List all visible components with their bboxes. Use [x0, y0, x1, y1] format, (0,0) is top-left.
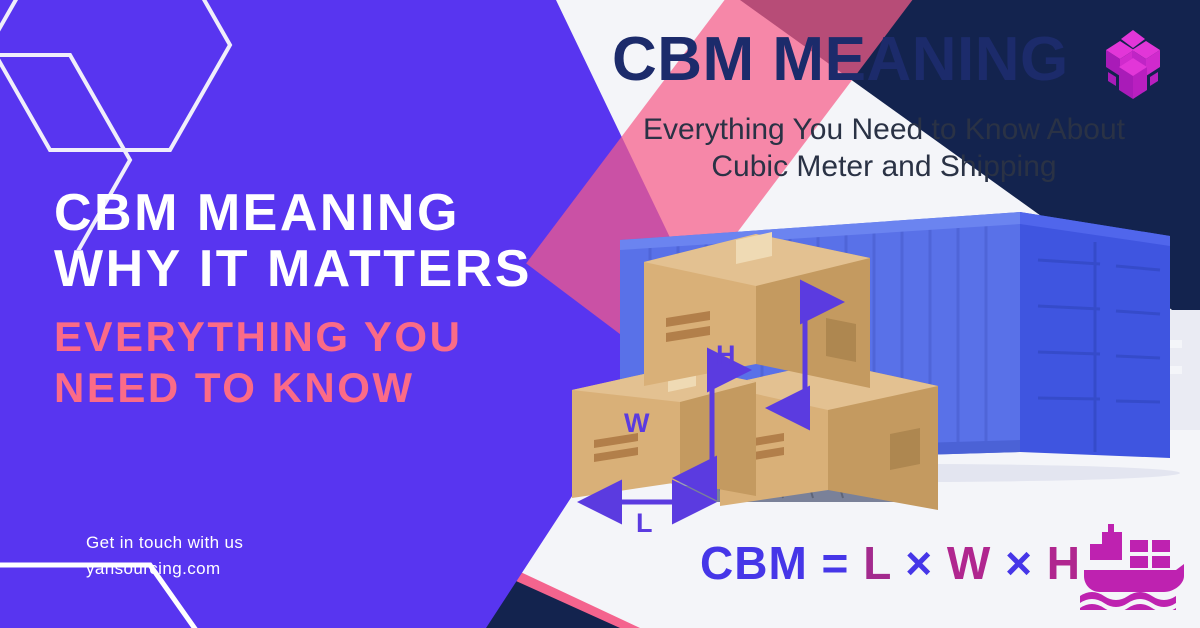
cargo-ship-icon: [1080, 518, 1184, 610]
formula-equals: =: [822, 537, 850, 589]
right-panel-subtitle: Everything You Need to Know About Cubic …: [604, 112, 1164, 185]
subtitle-line-1: Everything You Need to Know About: [643, 113, 1125, 146]
banner-root: CBM MEANING WHY IT MATTERS EVERYTHING YO…: [0, 0, 1200, 628]
carton-bottom-left: [572, 364, 756, 498]
formula-cbm: CBM: [700, 537, 808, 589]
dimension-label-height: H: [716, 340, 736, 371]
formula-l: L: [863, 537, 891, 589]
formula-times-2: ×: [1005, 537, 1033, 589]
dimension-label-length: L: [636, 508, 653, 539]
formula-times-1: ×: [905, 537, 933, 589]
contact-label: Get in touch with us: [86, 530, 243, 556]
dimension-label-width: W: [624, 408, 649, 439]
formula-h: H: [1047, 537, 1081, 589]
contact-block: Get in touch with us yansourcing.com: [86, 530, 243, 581]
yansourcing-cube-logo-icon[interactable]: [1096, 28, 1170, 106]
cbm-illustration: H W L: [560, 190, 1200, 550]
right-panel-title: CBM MEANING: [612, 24, 1069, 95]
cbm-formula: CBM = L × W × H: [700, 536, 1081, 590]
subtitle-line-2: Cubic Meter and Shipping: [711, 150, 1056, 183]
formula-w: W: [947, 537, 991, 589]
contact-website[interactable]: yansourcing.com: [86, 556, 243, 582]
